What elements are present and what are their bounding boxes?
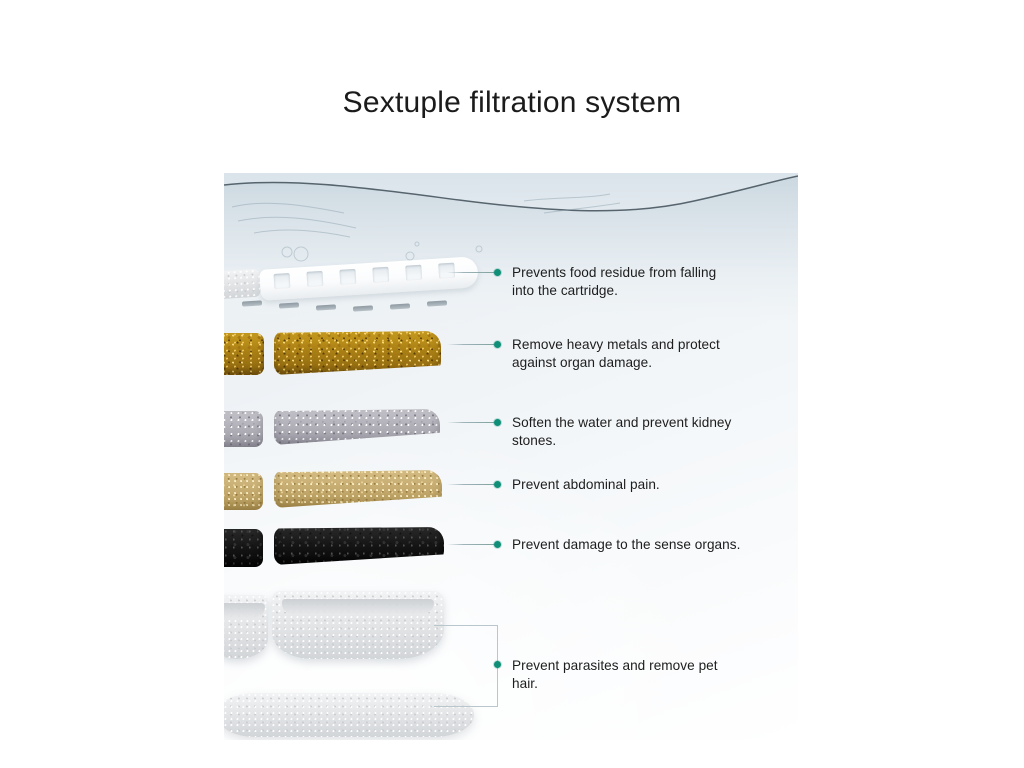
layer-ion-exchange-resin: [274, 331, 441, 375]
callout-5-dot-icon: [494, 541, 501, 548]
layer-sand-media-fragment: [224, 473, 263, 510]
callout-6-label: Prevent parasites and remove pet hair.: [512, 657, 782, 693]
layer-grid-cover-fragment: [224, 269, 261, 300]
callout-5-leader-line: [447, 544, 494, 545]
layer-ion-exchange-resin-fragment: [224, 333, 264, 375]
callout-5-label: Prevent damage to the sense organs.: [512, 536, 797, 554]
page-title: Sextuple filtration system: [0, 86, 1024, 120]
layer-sand-media: [274, 470, 442, 508]
callout-2-leader-line: [447, 344, 494, 345]
filtration-diagram-image: [224, 173, 798, 740]
layer-activated-carbon-fragment: [224, 529, 263, 567]
callout-3-label: Soften the water and prevent kidney ston…: [512, 414, 787, 450]
callout-6-bracket: [434, 625, 498, 707]
layer-foam-trough-fragment: [224, 595, 268, 659]
callout-4-dot-icon: [494, 481, 501, 488]
page-root: Sextuple filtration system: [0, 0, 1024, 768]
layer-water-softener: [274, 409, 440, 445]
water-surface-icon: [224, 173, 798, 333]
callout-4-leader-line: [447, 484, 494, 485]
layer-activated-carbon: [274, 527, 444, 565]
callout-4-label: Prevent abdominal pain.: [512, 476, 787, 494]
callout-2-dot-icon: [494, 341, 501, 348]
layer-foam-trough: [272, 591, 444, 659]
callout-2-label: Remove heavy metals and protect against …: [512, 336, 782, 372]
callout-1-leader-line: [447, 272, 494, 273]
layer-water-softener-fragment: [224, 411, 263, 447]
callout-1-dot-icon: [494, 269, 501, 276]
callout-6-dot-icon: [494, 661, 501, 668]
callout-1-label: Prevents food residue from falling into …: [512, 264, 782, 300]
callout-3-dot-icon: [494, 419, 501, 426]
callout-3-leader-line: [447, 422, 494, 423]
